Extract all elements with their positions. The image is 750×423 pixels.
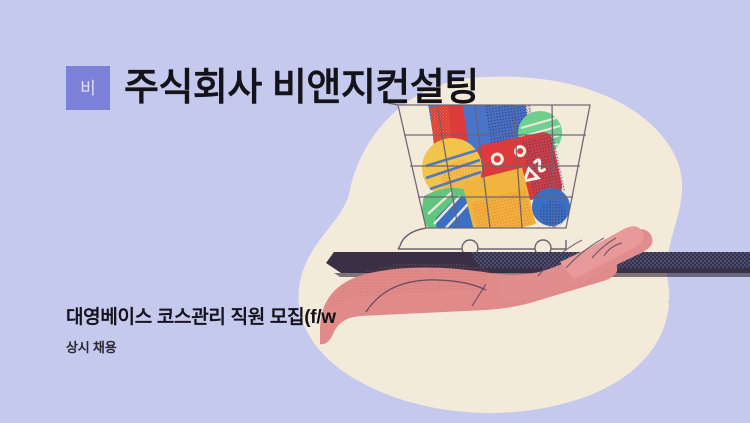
job-info-block: 대영베이스 코스관리 직원 모집(f/w 상시 채용	[66, 306, 336, 354]
job-title: 대영베이스 코스관리 직원 모집(f/w	[66, 306, 336, 330]
illustration-artwork	[0, 0, 750, 423]
company-header: 비 주식회사 비앤지컨설팅	[66, 66, 479, 110]
job-posting-card: 비 주식회사 비앤지컨설팅 대영베이스 코스관리 직원 모집(f/w 상시 채용	[0, 0, 750, 423]
company-logo-badge: 비	[66, 66, 110, 110]
company-logo-initial: 비	[80, 80, 96, 97]
company-name: 주식회사 비앤지컨설팅	[124, 69, 479, 107]
job-status-badge: 상시 채용	[66, 341, 336, 354]
